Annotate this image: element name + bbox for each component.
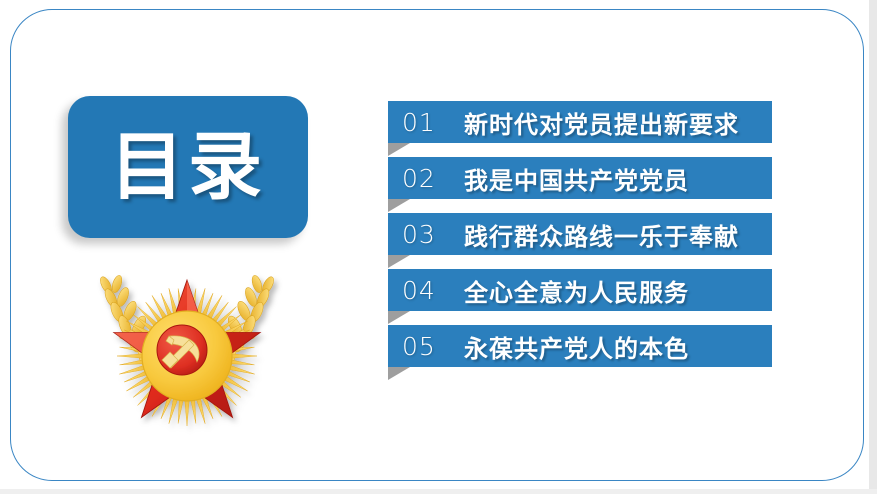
canvas-edge-right [869, 0, 877, 494]
toc-number: 01 [402, 108, 464, 137]
toc-bar[interactable]: 01 新时代对党员提出新要求 [388, 101, 772, 143]
toc-label: 全心全意为人民服务 [464, 273, 689, 308]
toc-item-03[interactable]: 03 践行群众路线一乐于奉献 [388, 213, 772, 255]
toc-bar[interactable]: 03 践行群众路线一乐于奉献 [388, 213, 772, 255]
toc-fold-corner [388, 311, 410, 324]
toc-label: 新时代对党员提出新要求 [464, 105, 739, 140]
toc-fold-corner [388, 255, 410, 268]
contents-title-plaque: 目录 [68, 96, 308, 238]
toc-number: 02 [402, 164, 464, 193]
toc-item-02[interactable]: 02 我是中国共产党党员 [388, 157, 772, 199]
toc-item-01[interactable]: 01 新时代对党员提出新要求 [388, 101, 772, 143]
toc-label: 我是中国共产党党员 [464, 161, 689, 196]
toc-fold-corner [388, 199, 410, 212]
toc-bar[interactable]: 04 全心全意为人民服务 [388, 269, 772, 311]
page-title: 目录 [110, 130, 266, 204]
toc-number: 04 [402, 276, 464, 305]
toc-label: 践行群众路线一乐于奉献 [464, 217, 739, 252]
toc-number: 05 [402, 332, 464, 361]
toc-item-05[interactable]: 05 永葆共产党人的本色 [388, 325, 772, 367]
party-emblem [62, 256, 312, 436]
toc-fold-corner [388, 143, 410, 156]
toc-bar[interactable]: 02 我是中国共产党党员 [388, 157, 772, 199]
toc-bar[interactable]: 05 永葆共产党人的本色 [388, 325, 772, 367]
table-of-contents: 01 新时代对党员提出新要求 02 我是中国共产党党员 03 践行群众路线一乐于… [388, 101, 772, 367]
toc-number: 03 [402, 220, 464, 249]
slide-canvas: 目录 [0, 0, 877, 494]
toc-fold-corner [388, 367, 410, 380]
canvas-edge-bottom [0, 489, 877, 494]
toc-label: 永葆共产党人的本色 [464, 329, 689, 364]
toc-item-04[interactable]: 04 全心全意为人民服务 [388, 269, 772, 311]
